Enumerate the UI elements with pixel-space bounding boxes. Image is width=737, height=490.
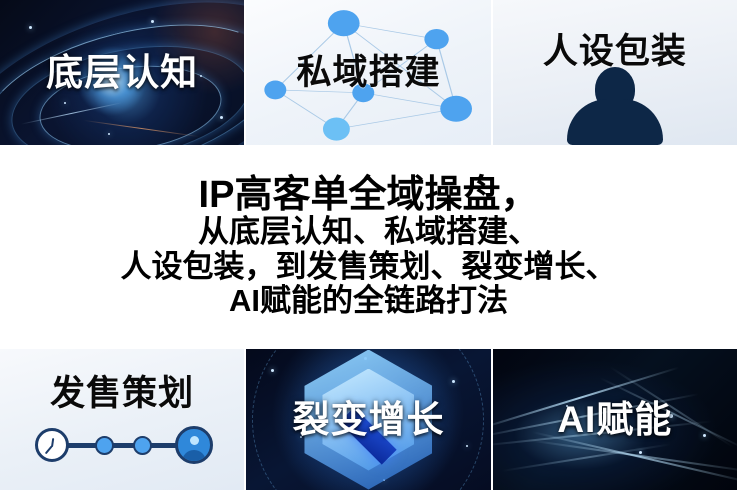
avatar-body — [182, 450, 206, 463]
panel-label-persona: 人设包装 — [543, 34, 687, 69]
person-avatar-icon — [175, 426, 213, 464]
particle-dot-icon — [64, 102, 66, 104]
particle-dot-icon — [29, 26, 32, 29]
panel-label-fission-growth: 裂变增长 — [292, 401, 444, 438]
person-silhouette-icon — [567, 67, 663, 145]
panel-ai-empowerment[interactable]: AI赋能 — [493, 349, 737, 490]
panel-fission-growth[interactable]: 裂变增长 — [246, 349, 490, 490]
clock-minute-hand — [45, 445, 53, 454]
panel-private-domain[interactable]: 私域搭建 — [246, 0, 490, 145]
poster-canvas: 底层认知 — [0, 0, 737, 490]
panel-launch-plan[interactable]: 发售策划 — [0, 349, 244, 490]
particle-dot-icon — [639, 451, 642, 454]
panel-cognition[interactable]: 底层认知 — [0, 0, 244, 145]
title-line-1: IP高客单全域操盘， — [199, 175, 539, 215]
timeline-node-2 — [133, 436, 152, 455]
particle-dot-icon — [220, 116, 223, 119]
timeline-node-1 — [95, 436, 114, 455]
panel-label-cognition: 底层认知 — [46, 54, 198, 91]
panel-label-private-domain: 私域搭建 — [296, 55, 440, 90]
panel-persona[interactable]: 人设包装 — [493, 0, 737, 145]
title-line-2: 从底层认知、私域搭建、 — [198, 215, 539, 250]
main-title-block: IP高客单全域操盘， 从底层认知、私域搭建、 人设包装，到发售策划、裂变增长、 … — [0, 145, 737, 349]
top-panel-row: 底层认知 — [0, 0, 737, 145]
particle-dot-icon — [271, 369, 274, 372]
particle-dot-icon — [703, 434, 706, 437]
panel-label-launch-plan: 发售策划 — [50, 376, 194, 411]
panel-label-ai-empowerment: AI赋能 — [557, 401, 672, 438]
avatar-head — [190, 436, 199, 445]
timeline-icon — [29, 425, 215, 463]
silhouette-body — [567, 99, 663, 145]
bottom-panel-row: 发售策划 — [0, 349, 737, 490]
clock-icon — [35, 428, 69, 462]
title-line-3: 人设包装，到发售策划、裂变增长、 — [121, 250, 617, 285]
title-line-4: AI赋能的全链路打法 — [229, 284, 508, 319]
